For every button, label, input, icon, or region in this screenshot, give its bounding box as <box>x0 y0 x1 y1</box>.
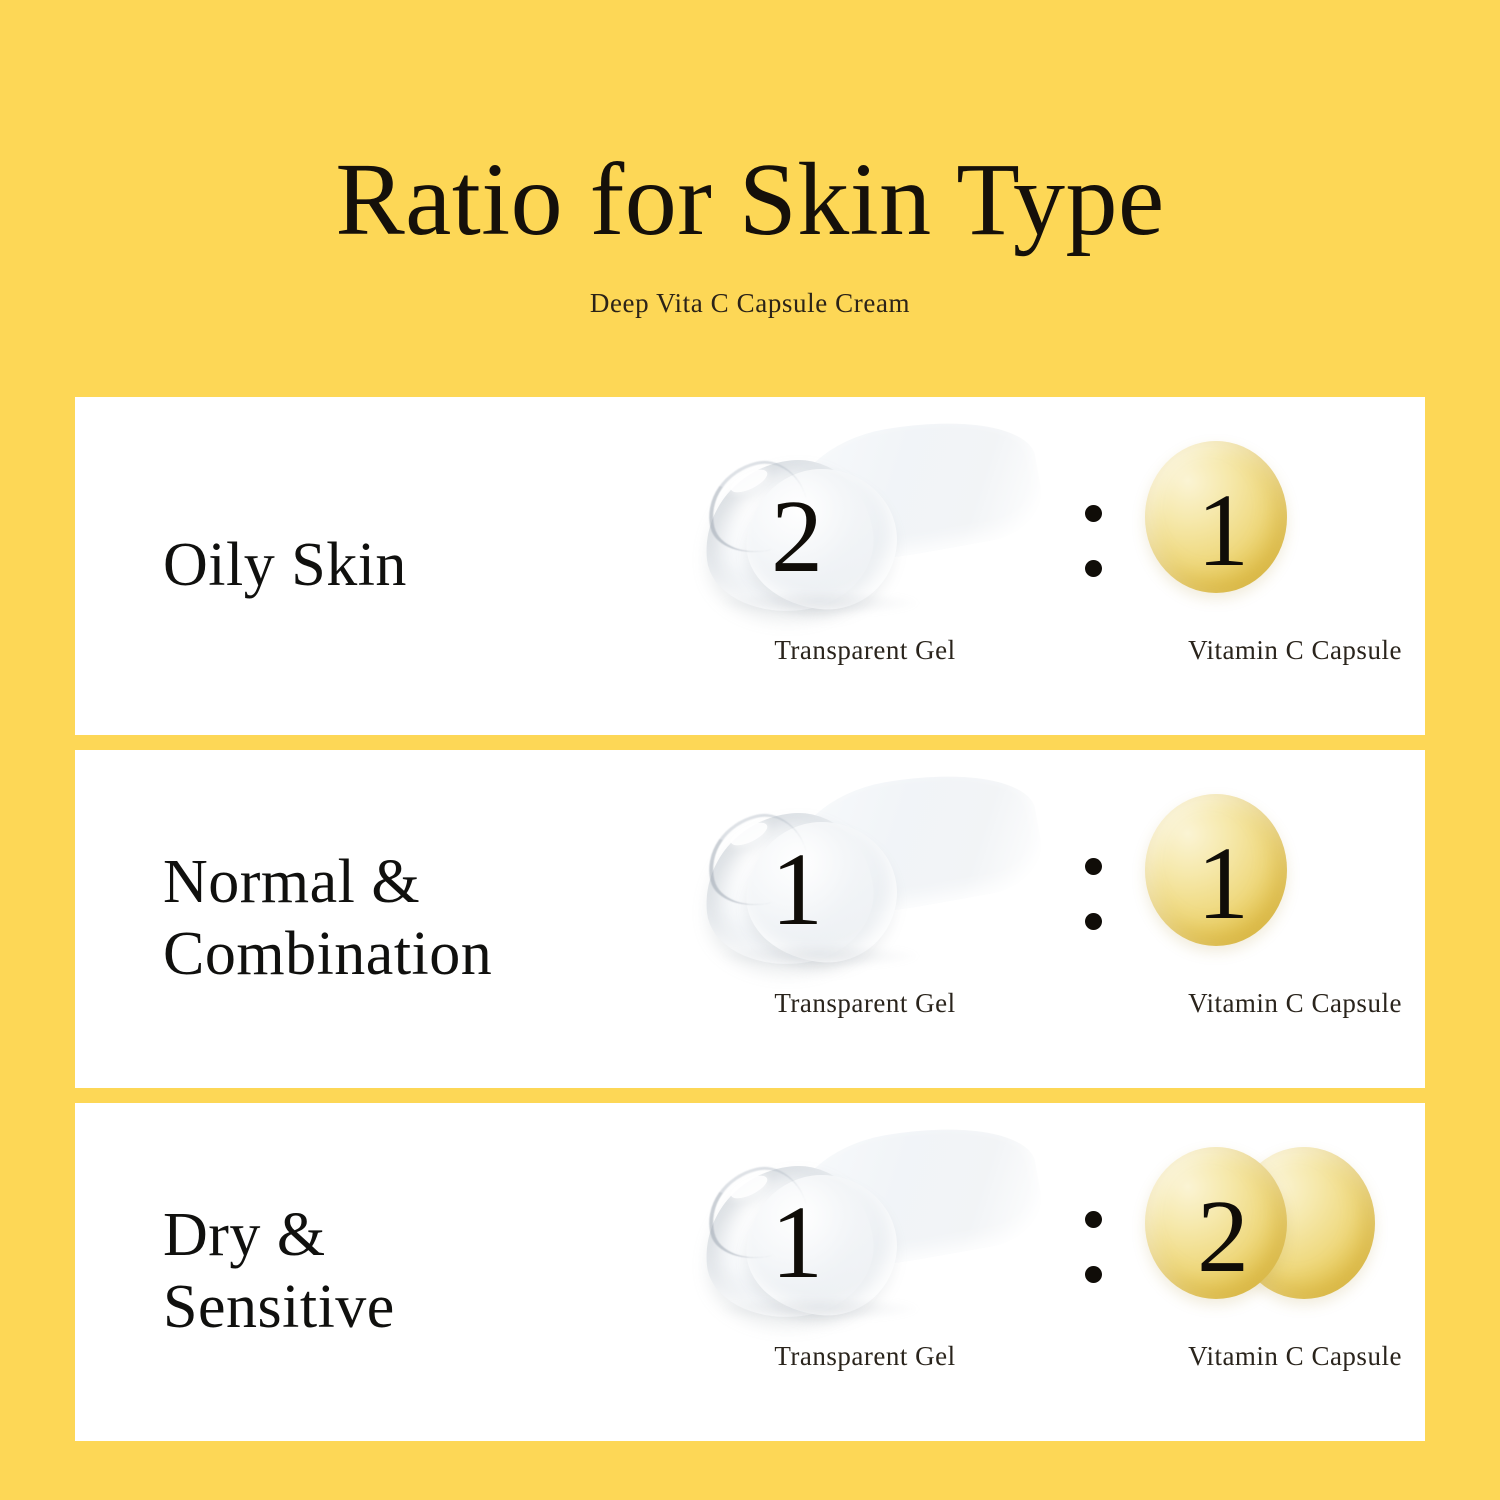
colon-dot-bottom-icon <box>1085 560 1102 577</box>
capsule-column: 1 Vitamin C Capsule <box>1145 750 1500 1088</box>
ratio-separator <box>1073 1103 1113 1441</box>
colon-dot-top-icon <box>1085 1211 1102 1228</box>
gel-swatch-icon: 1 <box>695 1135 1035 1325</box>
gel-swatch-icon: 2 <box>695 429 1035 619</box>
capsule-count: 1 <box>1197 832 1249 936</box>
ratio-card: Normal & Combination 1 Transparent Gel <box>75 750 1425 1088</box>
gel-column: 1 Transparent Gel <box>695 750 1055 1088</box>
skin-type-label: Oily Skin <box>163 530 407 602</box>
capsule-count: 1 <box>1197 479 1249 583</box>
ratio-separator <box>1073 397 1113 735</box>
gel-label: Transparent Gel <box>695 988 1035 1019</box>
ratio-card-list: Oily Skin 2 Transparent Gel <box>75 397 1425 1441</box>
ratio-group: 2 Transparent Gel 1 Vitamin C Capsule <box>675 397 1425 735</box>
gel-column: 2 Transparent Gel <box>695 397 1055 735</box>
gel-drop-shadow <box>719 944 919 968</box>
capsule-column: 1 Vitamin C Capsule <box>1145 397 1500 735</box>
gel-swatch-icon: 1 <box>695 782 1035 972</box>
page-title: Ratio for Skin Type <box>0 148 1500 252</box>
colon-dot-top-icon <box>1085 858 1102 875</box>
gel-count: 2 <box>771 485 823 589</box>
ratio-group: 1 Transparent Gel 1 Vitamin C Capsule <box>675 750 1425 1088</box>
gel-label: Transparent Gel <box>695 1341 1035 1372</box>
page-header: Ratio for Skin Type Deep Vita C Capsule … <box>0 0 1500 319</box>
gel-count: 1 <box>771 838 823 942</box>
infographic-page: { "theme": { "background": "#FDD756", "c… <box>0 0 1500 1500</box>
gel-count: 1 <box>771 1191 823 1295</box>
colon-dot-bottom-icon <box>1085 1266 1102 1283</box>
vitamin-c-capsule-icon: 2 <box>1145 1135 1445 1325</box>
page-subtitle: Deep Vita C Capsule Cream <box>0 288 1500 319</box>
gel-column: 1 Transparent Gel <box>695 1103 1055 1441</box>
skin-type-label: Normal & Combination <box>163 847 492 991</box>
capsule-count: 2 <box>1197 1185 1249 1289</box>
vitamin-c-capsule-icon: 1 <box>1145 429 1445 619</box>
gel-label: Transparent Gel <box>695 635 1035 666</box>
gel-drop-shadow <box>719 1297 919 1321</box>
gel-drop-shadow <box>719 591 919 615</box>
capsule-column: 2 Vitamin C Capsule <box>1145 1103 1500 1441</box>
ratio-separator <box>1073 750 1113 1088</box>
colon-dot-top-icon <box>1085 505 1102 522</box>
skin-type-label: Dry & Sensitive <box>163 1200 395 1344</box>
capsule-label: Vitamin C Capsule <box>1145 635 1445 666</box>
capsule-label: Vitamin C Capsule <box>1145 988 1445 1019</box>
capsule-label: Vitamin C Capsule <box>1145 1341 1445 1372</box>
ratio-card: Oily Skin 2 Transparent Gel <box>75 397 1425 735</box>
vitamin-c-capsule-icon: 1 <box>1145 782 1445 972</box>
ratio-card: Dry & Sensitive 1 Transparent Gel <box>75 1103 1425 1441</box>
colon-dot-bottom-icon <box>1085 913 1102 930</box>
ratio-group: 1 Transparent Gel 2 Vitamin C Capsule <box>675 1103 1425 1441</box>
